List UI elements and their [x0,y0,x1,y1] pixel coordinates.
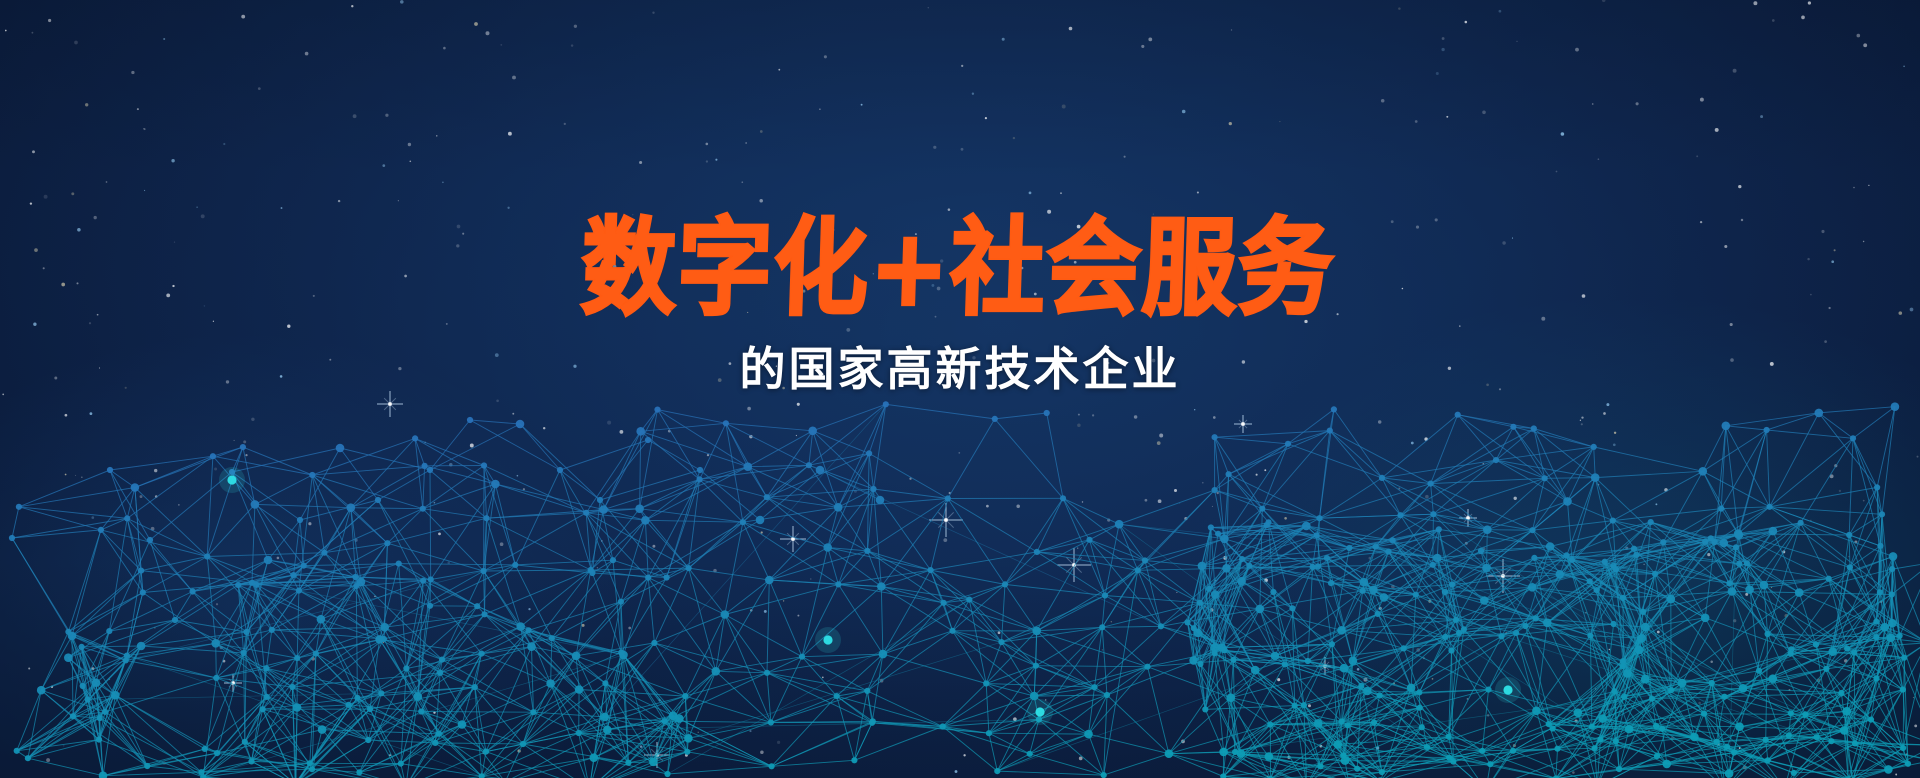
headline-block: 数字化+社会服务 的国家高新技术企业 [0,214,1920,397]
page-title: 数字化+社会服务 [0,214,1920,326]
banner-stage: 数字化+社会服务 的国家高新技术企业 [0,0,1920,778]
page-subtitle: 的国家高新技术企业 [0,342,1920,397]
